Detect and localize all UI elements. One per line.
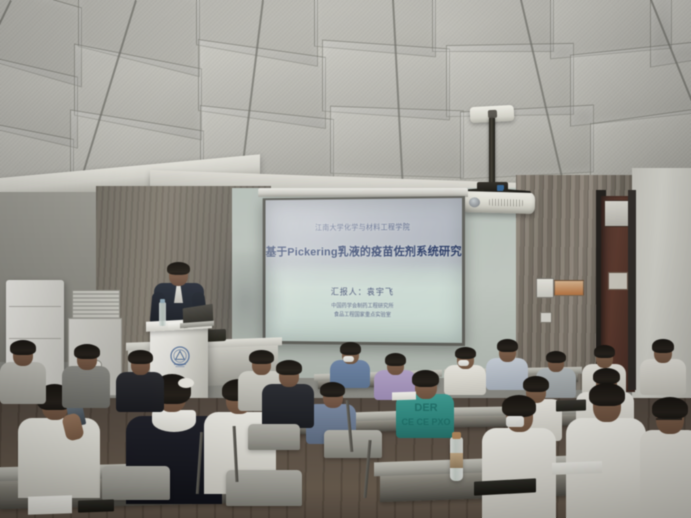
projector-lens — [469, 197, 480, 207]
person-torso — [262, 384, 314, 428]
ac-seam — [9, 338, 61, 339]
person-hair — [523, 376, 549, 392]
lecture-hall-photograph: 江南大学化学与材料工程学院 基于Pickering乳液的疫苗佐剂系统研究 汇报人… — [0, 0, 691, 518]
chair[interactable] — [324, 430, 382, 458]
shirt-print-text: DER CE CE PXO — [400, 398, 452, 432]
audience-foreground-white-1 — [482, 398, 556, 518]
person-hair — [652, 339, 674, 353]
wall-outlet[interactable] — [540, 312, 552, 323]
glasses-icon — [596, 355, 612, 360]
person-hair — [276, 360, 302, 375]
svg-text:DER: DER — [414, 402, 437, 414]
screen-vignette — [265, 198, 462, 343]
person-torso — [640, 430, 691, 518]
audience-back-left-3 — [116, 352, 164, 408]
projector-vent — [489, 199, 523, 207]
ac-seam — [9, 306, 61, 307]
projection-screen-frame: 江南大学化学与材料工程学院 基于Pickering乳液的疫苗佐剂系统研究 汇报人… — [263, 196, 465, 346]
person-torso — [62, 366, 110, 408]
ac-grille — [72, 290, 120, 320]
paper-sheet — [28, 495, 72, 515]
audience-foreground-right-edge — [640, 400, 691, 518]
plate-hole — [488, 110, 497, 118]
university-emblem-icon — [168, 344, 192, 370]
chair[interactable] — [102, 466, 170, 500]
audience-far-right — [640, 340, 686, 392]
water-bottle-on-desk — [450, 437, 463, 481]
face-mask — [458, 360, 469, 366]
wall-notice-white — [536, 278, 554, 298]
person-torso — [0, 362, 46, 404]
paper-sheet — [552, 461, 602, 475]
bottle-cap — [452, 432, 461, 439]
person-torso — [18, 418, 100, 498]
svg-text:CE CE PXO: CE CE PXO — [401, 417, 450, 427]
person-hair — [412, 370, 439, 387]
projection-screen: 江南大学化学与材料工程学院 基于Pickering乳液的疫苗佐剂系统研究 汇报人… — [265, 198, 462, 343]
audience-green-shirt: DER CE CE PXO — [396, 372, 454, 434]
ceiling-tile — [330, 106, 464, 179]
water-bottle-on-lectern — [159, 302, 166, 326]
chair[interactable] — [248, 424, 300, 450]
person-hair — [340, 342, 361, 355]
bottle-label — [450, 453, 463, 468]
person-hair — [74, 344, 100, 359]
person-hair — [652, 397, 688, 419]
bottle-cap — [160, 299, 165, 303]
person-hair — [320, 382, 345, 397]
person-torso — [640, 359, 686, 395]
person-hair — [10, 340, 36, 355]
wall-notice-orange — [554, 280, 584, 296]
audience-back-left-1 — [62, 346, 110, 404]
door-window — [604, 200, 631, 227]
hair-clip — [178, 378, 194, 388]
projector — [462, 191, 536, 214]
person-hair — [593, 368, 620, 384]
person-torso — [482, 428, 556, 518]
person-hair — [589, 383, 625, 406]
emblem-svg — [168, 344, 192, 370]
bag-on-desk — [556, 399, 586, 411]
person-hair — [385, 353, 406, 366]
door-frame — [628, 190, 636, 390]
person-hair — [502, 395, 536, 417]
face-mask — [506, 416, 524, 427]
paper-sheet — [392, 392, 416, 401]
audience-back-left-2 — [0, 342, 46, 400]
audience-dark-cap — [262, 362, 314, 424]
projector-mount-pole — [489, 118, 495, 190]
door-room-plate — [608, 272, 628, 290]
person-hair — [497, 339, 518, 352]
glasses-icon — [656, 418, 682, 426]
person-torso — [116, 372, 164, 412]
audience-blue-shirt — [330, 344, 370, 386]
glasses-icon — [170, 273, 187, 278]
person-hair — [128, 350, 153, 364]
person-hair — [546, 351, 566, 363]
face-mask — [343, 356, 354, 362]
white-collar — [152, 410, 196, 432]
notebook — [78, 499, 114, 512]
